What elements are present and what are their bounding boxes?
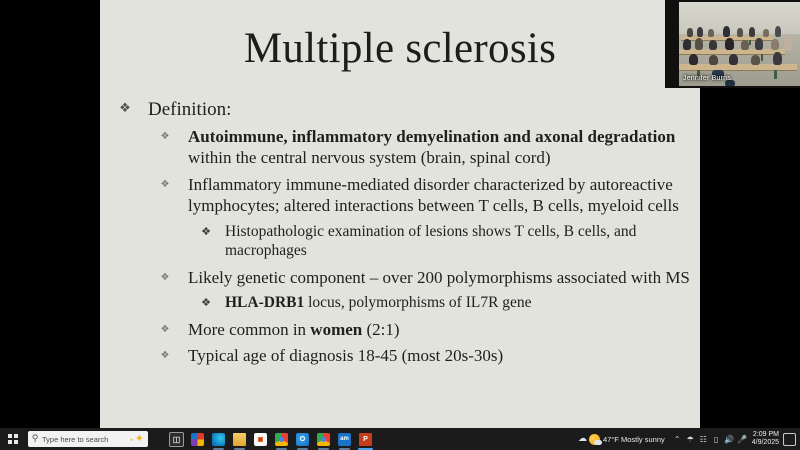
student-silhouette bbox=[723, 26, 730, 37]
bullet-diamond-icon: ❖ bbox=[114, 98, 136, 118]
student-silhouette bbox=[687, 28, 693, 37]
student-silhouette bbox=[749, 27, 755, 37]
student-silhouette bbox=[784, 35, 792, 51]
sparkle-icon[interactable]: ✦ bbox=[135, 432, 144, 446]
desk-leg bbox=[761, 54, 763, 61]
bullet-level3-histopathologic: ❖ Histopathologic examination of lesions… bbox=[114, 222, 692, 261]
search-icon: ⚲ bbox=[28, 434, 42, 444]
onedrive-icon[interactable]: ☁ bbox=[576, 428, 589, 450]
student-silhouette bbox=[697, 27, 703, 37]
student-silhouette bbox=[741, 40, 749, 50]
monitor-icon[interactable]: ▯ bbox=[710, 428, 723, 450]
student-silhouette bbox=[708, 29, 714, 37]
clock-date: 4/9/2025 bbox=[752, 439, 779, 448]
google-chrome-icon bbox=[275, 433, 288, 446]
weather-widget[interactable]: 47°F Mostly sunny bbox=[589, 434, 665, 445]
participant-name-label: Jennifer Burns bbox=[683, 75, 731, 82]
student-silhouette bbox=[771, 39, 779, 50]
slide-title: Multiple sclerosis bbox=[100, 26, 700, 71]
bullet-text: HLA-DRB1 locus, polymorphisms of IL7R ge… bbox=[214, 293, 692, 313]
taskbar-item-calendar[interactable]: ▣ bbox=[250, 428, 271, 450]
clock-time: 2:09 PM bbox=[752, 431, 779, 440]
start-button[interactable] bbox=[0, 428, 26, 450]
bullet-diamond-icon: ❖ bbox=[156, 345, 174, 363]
bullet-diamond-icon: ❖ bbox=[156, 267, 174, 285]
bullet-text: More common in women (2:1) bbox=[174, 319, 692, 340]
microsoft-edge-icon bbox=[212, 433, 225, 446]
student-silhouette bbox=[729, 54, 738, 65]
taskbar-app-icons: ◫ ▣ O bbox=[166, 428, 376, 450]
cloud-icon bbox=[594, 440, 602, 445]
desk-leg bbox=[749, 40, 751, 45]
system-tray: ☁ 47°F Mostly sunny ⌃ ☂ ☷ ▯ 🔊 🎤 2:09 PM … bbox=[576, 428, 800, 450]
bullet-text: Histopathologic examination of lesions s… bbox=[214, 222, 692, 261]
bullet-text: Definition: bbox=[136, 98, 692, 122]
bullet-level2-autoimmune: ❖ Autoimmune, inflammatory demyelination… bbox=[114, 126, 692, 169]
student-silhouette bbox=[737, 28, 743, 37]
windows-logo-icon bbox=[8, 434, 18, 444]
taskbar-item-office[interactable] bbox=[187, 428, 208, 450]
student-silhouette bbox=[763, 29, 769, 37]
taskbar-item-chrome-2[interactable] bbox=[313, 428, 334, 450]
weather-text: 47°F Mostly sunny bbox=[603, 435, 665, 444]
task-view-icon: ◫ bbox=[169, 432, 184, 447]
slide-body-list: ❖ Definition: ❖ Autoimmune, inflammatory… bbox=[114, 98, 692, 371]
bullet-text: Autoimmune, inflammatory demyelination a… bbox=[174, 126, 692, 169]
onedrive-sync-icon[interactable]: ☂ bbox=[684, 428, 697, 450]
powerpoint-icon: P bbox=[359, 433, 372, 446]
bullet-level1-definition: ❖ Definition: bbox=[114, 98, 692, 122]
search-input[interactable]: ⚲ Type here to search ✦ ✦ bbox=[28, 431, 148, 447]
student-silhouette bbox=[773, 52, 782, 65]
office-icon bbox=[191, 433, 204, 446]
amazon-workspace-icon: am bbox=[338, 433, 351, 446]
student-silhouette bbox=[725, 38, 734, 50]
bullet-diamond-icon: ❖ bbox=[156, 319, 174, 337]
taskbar-item-outlook[interactable]: O bbox=[292, 428, 313, 450]
show-hidden-icons-chevron-icon[interactable]: ⌃ bbox=[671, 428, 684, 450]
bullet-level2-inflammatory-disorder: ❖ Inflammatory immune-mediated disorder … bbox=[114, 174, 692, 217]
bullet-level2-more-common-women: ❖ More common in women (2:1) bbox=[114, 319, 692, 340]
student-silhouette bbox=[695, 38, 703, 50]
student-silhouette bbox=[683, 39, 691, 50]
bullet-text: Likely genetic component – over 200 poly… bbox=[174, 267, 692, 288]
outlook-icon: O bbox=[296, 433, 309, 446]
taskbar-item-edge[interactable] bbox=[208, 428, 229, 450]
taskbar-item-file-explorer[interactable] bbox=[229, 428, 250, 450]
webcam-overlay[interactable]: Jennifer Burns bbox=[665, 0, 800, 88]
task-view-button[interactable]: ◫ bbox=[166, 428, 187, 450]
bullet-diamond-icon: ❖ bbox=[156, 126, 174, 144]
desktop-screen: Multiple sclerosis ❖ Definition: ❖ Autoi… bbox=[0, 0, 800, 450]
search-placeholder: Type here to search bbox=[42, 435, 108, 444]
student-silhouette bbox=[689, 54, 698, 65]
sun-icon bbox=[589, 434, 600, 445]
volume-icon[interactable]: 🔊 bbox=[723, 428, 736, 450]
google-chrome-icon bbox=[317, 433, 330, 446]
taskbar-item-amazon-workspace[interactable]: am bbox=[334, 428, 355, 450]
student-silhouette bbox=[709, 55, 718, 65]
student-silhouette bbox=[755, 38, 763, 50]
student-silhouette bbox=[751, 55, 760, 65]
webcam-video-feed: Jennifer Burns bbox=[679, 2, 800, 86]
bullet-text: Inflammatory immune-mediated disorder ch… bbox=[174, 174, 692, 217]
bullet-diamond-icon: ❖ bbox=[156, 174, 174, 192]
bullet-level2-typical-age: ❖ Typical age of diagnosis 18-45 (most 2… bbox=[114, 345, 692, 366]
powerpoint-slide[interactable]: Multiple sclerosis ❖ Definition: ❖ Autoi… bbox=[100, 0, 700, 428]
bullet-diamond-icon: ❖ bbox=[198, 293, 214, 310]
network-icon[interactable]: ☷ bbox=[697, 428, 710, 450]
bullet-level3-hla-drb1: ❖ HLA-DRB1 locus, polymorphisms of IL7R … bbox=[114, 293, 692, 313]
student-silhouette bbox=[775, 26, 781, 37]
taskbar-item-chrome[interactable] bbox=[271, 428, 292, 450]
desk-leg bbox=[774, 70, 777, 79]
windows-taskbar[interactable]: ⚲ Type here to search ✦ ✦ ◫ ▣ bbox=[0, 428, 800, 450]
microphone-icon[interactable]: 🎤 bbox=[736, 428, 749, 450]
file-explorer-icon bbox=[233, 433, 246, 446]
notification-center-icon[interactable] bbox=[783, 433, 796, 446]
bullet-level2-genetic-component: ❖ Likely genetic component – over 200 po… bbox=[114, 267, 692, 288]
bullet-diamond-icon: ❖ bbox=[198, 222, 214, 239]
bullet-text: Typical age of diagnosis 18-45 (most 20s… bbox=[174, 345, 692, 366]
calendar-icon: ▣ bbox=[254, 433, 267, 446]
taskbar-item-powerpoint[interactable]: P bbox=[355, 428, 376, 450]
sparkle-small-icon: ✦ bbox=[129, 437, 134, 444]
clock[interactable]: 2:09 PM 4/9/2025 bbox=[752, 431, 779, 448]
student-silhouette bbox=[709, 40, 717, 50]
